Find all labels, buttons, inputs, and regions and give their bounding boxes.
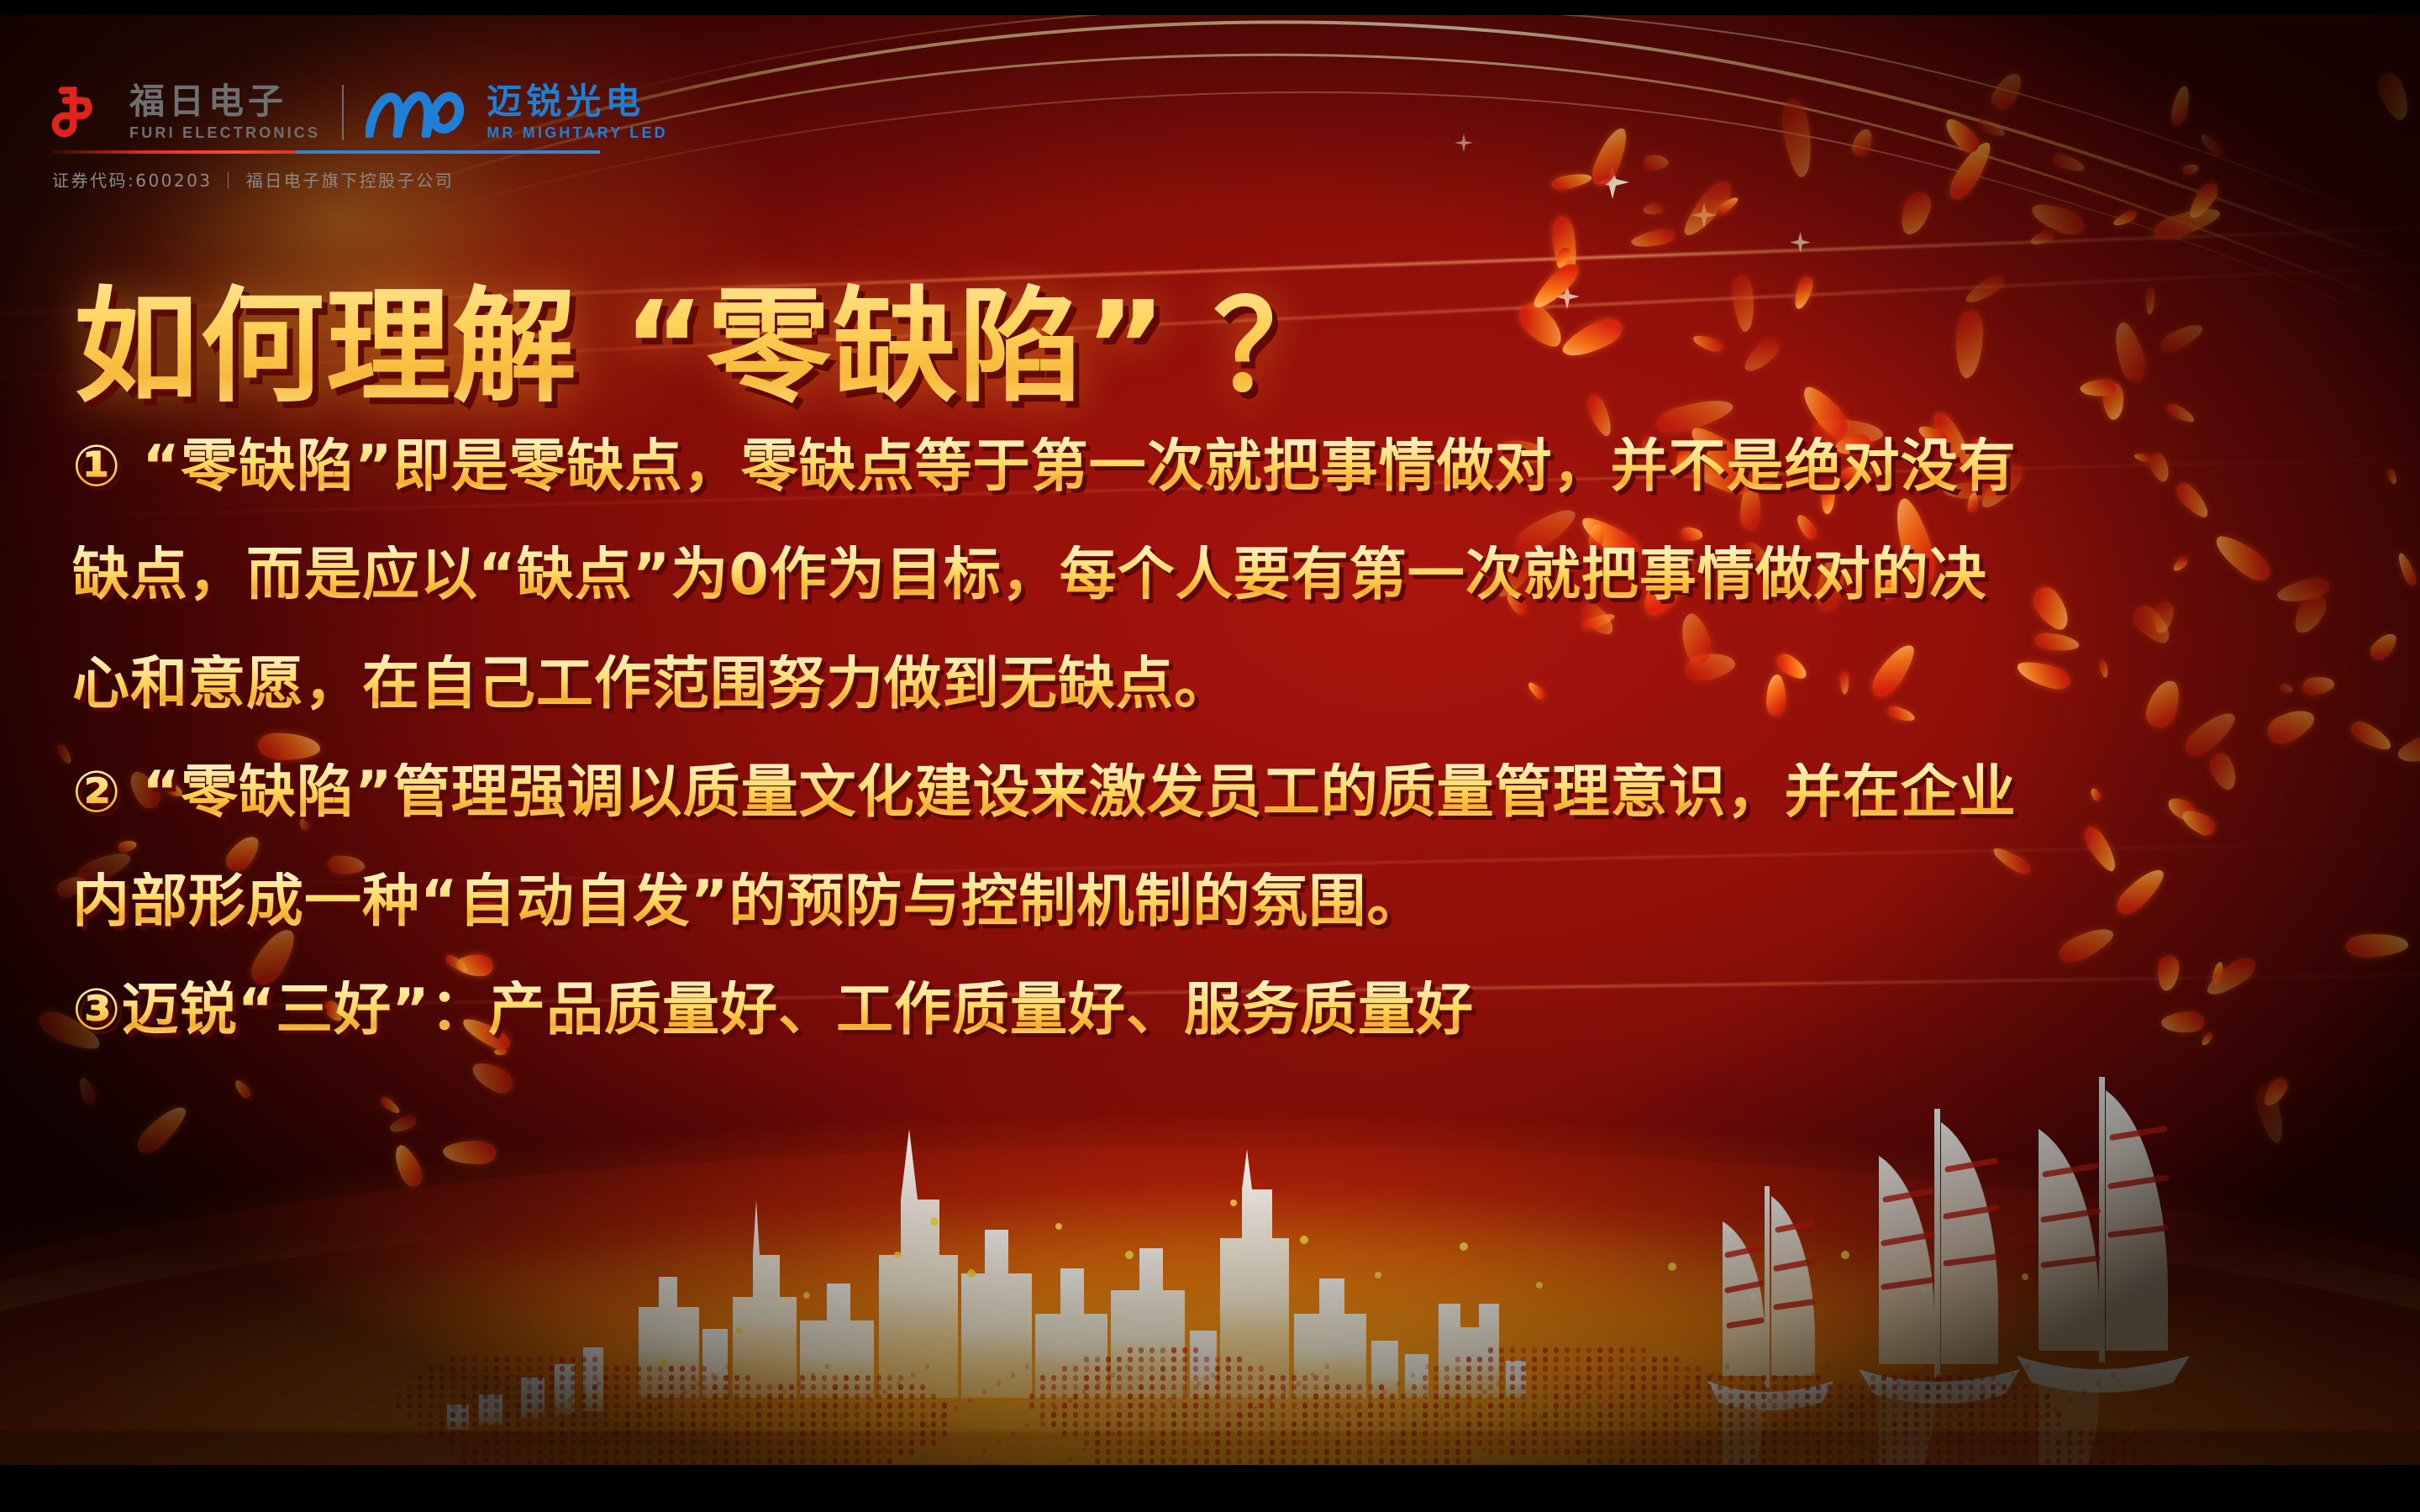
vertical-divider-icon [342,85,344,140]
furi-en-name: FURI ELECTRONICS [129,125,320,140]
body-line: ② “零缺陷”管理强调以质量文化建设来激发员工的质量管理意识，并在企业 [72,763,2341,822]
mighty-cn-name: 迈锐光电 [487,84,668,119]
body-text-block: ① “零缺陷”即是零缺点，零缺点等于第一次就把事情做对，并不是绝对没有 缺点，而… [72,437,2341,1040]
petal-particle [2367,628,2401,664]
mr-swoosh-logo-icon [366,87,465,138]
furi-cn-name: 福日电子 [129,84,320,119]
page-title: 如何理解 “零缺陷” ？ [74,245,1339,426]
letterbox-bar-bottom [0,1465,2420,1512]
body-line: 缺点，而是应以“缺点”为0作为目标，每个人要有第一次就把事情做对的决 [72,545,2341,605]
furi-p-logo-icon [52,85,108,140]
mighty-en-name: MR MIGHTARY LED [487,125,668,140]
logo-underline-rule [52,150,600,154]
brand-logo-block[interactable]: 福日电子 FURI ELECTRONICS 迈锐光电 MR MIGHTARY L… [52,84,668,192]
stock-code-subline: 证券代码:600203 ｜ 福日电子旗下控股子公司 [52,167,668,192]
petal-particle [2395,551,2420,588]
body-line: ① “零缺陷”即是零缺点，零缺点等于第一次就把事情做对，并不是绝对没有 [72,437,2341,496]
petal-particle [2386,468,2399,486]
body-line: 内部形成一种“自动自发”的预防与控制机制的氛围。 [72,872,2341,932]
body-line: ③迈锐“三好”：产品质量好、工作质量好、服务质量好 [72,980,2341,1040]
poster-canvas: 福日电子 FURI ELECTRONICS 迈锐光电 MR MIGHTARY L… [0,0,2420,1512]
body-line: 心和意愿，在自己工作范围努力做到无缺点。 [72,654,2341,714]
petal-particle [2395,730,2420,769]
letterbox-bar-top [0,0,2420,15]
petal-particle [2347,718,2395,755]
